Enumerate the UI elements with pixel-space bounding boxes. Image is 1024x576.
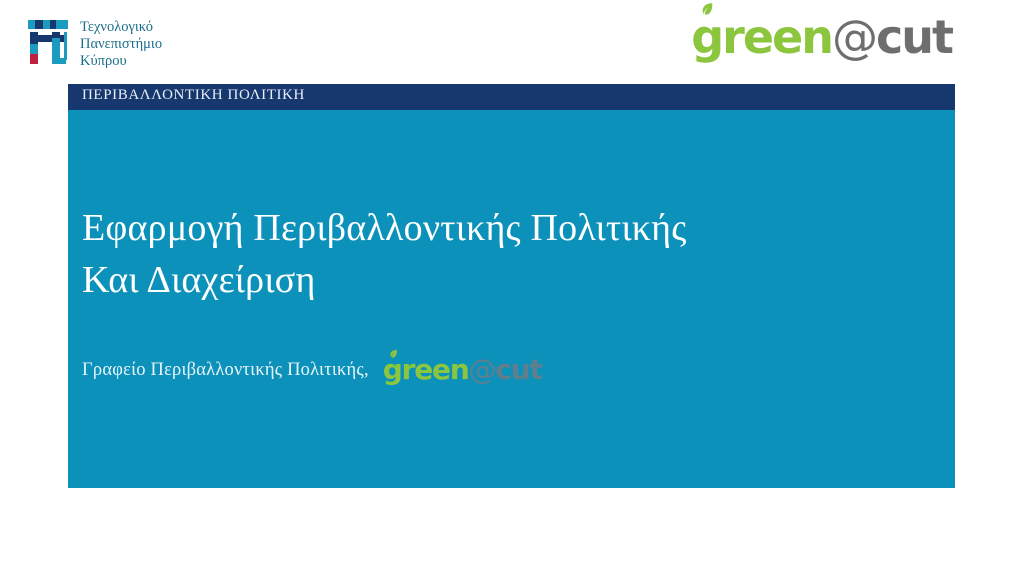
greencut-green-word: green [691, 14, 832, 60]
monogram-crossbar [30, 35, 66, 42]
university-name: Τεχνολογικό Πανεπιστήμιο Κύπρου [80, 18, 162, 70]
monogram-right-edge [64, 32, 67, 60]
greencut-inline-green-word: green [383, 356, 469, 384]
greencut-logo: green @ cut [691, 14, 952, 60]
slide-subtitle-text: Γραφείο Περιβαλλοντικής Πολιτικής, [82, 360, 369, 381]
monogram-top-band [28, 20, 68, 29]
section-header-bar: ΠΕΡΙΒΑΛΛΟΝΤΙΚΗ ΠΟΛΙΤΙΚΗ [68, 84, 955, 110]
monogram-right-foot [52, 58, 66, 64]
slide-title-line-2: Και Διαχείριση [82, 254, 902, 306]
leaf-icon [387, 349, 398, 360]
cut-monogram-icon [28, 18, 68, 64]
greencut-at-symbol: @ [832, 14, 876, 60]
monogram-band-segment-b [50, 20, 56, 29]
section-header-label: ΠΕΡΙΒΑΛΛΟΝΤΙΚΗ ΠΟΛΙΤΙΚΗ [82, 87, 305, 104]
greencut-logo-inline: green @ cut [383, 356, 542, 384]
slide-title: Εφαρμογή Περιβαλλοντικής Πολιτικής Και Δ… [82, 202, 902, 306]
greencut-inline-cut-word: cut [495, 356, 541, 384]
monogram-band-segment-a [35, 20, 43, 29]
monogram-right-pillar-cap [52, 32, 60, 38]
slide-title-line-1: Εφαρμογή Περιβαλλοντικής Πολιτικής [82, 207, 686, 249]
slide-content-block: ΠΕΡΙΒΑΛΛΟΝΤΙΚΗ ΠΟΛΙΤΙΚΗ Εφαρμογή Περιβαλ… [68, 84, 955, 488]
university-logo-lockup: Τεχνολογικό Πανεπιστήμιο Κύπρου [28, 18, 162, 70]
greencut-cut-word: cut [876, 14, 952, 60]
leaf-icon [698, 2, 714, 18]
university-name-line-1: Τεχνολογικό [80, 19, 162, 36]
university-name-line-3: Κύπρου [80, 53, 162, 70]
monogram-red-accent [30, 54, 38, 64]
university-name-line-2: Πανεπιστήμιο [80, 36, 162, 53]
greencut-inline-at-symbol: @ [469, 356, 496, 384]
presentation-slide: Τεχνολογικό Πανεπιστήμιο Κύπρου green @ … [0, 0, 1024, 576]
greencut-green-text: green [691, 10, 832, 64]
slide-subtitle-row: Γραφείο Περιβαλλοντικής Πολιτικής, green… [82, 356, 542, 384]
